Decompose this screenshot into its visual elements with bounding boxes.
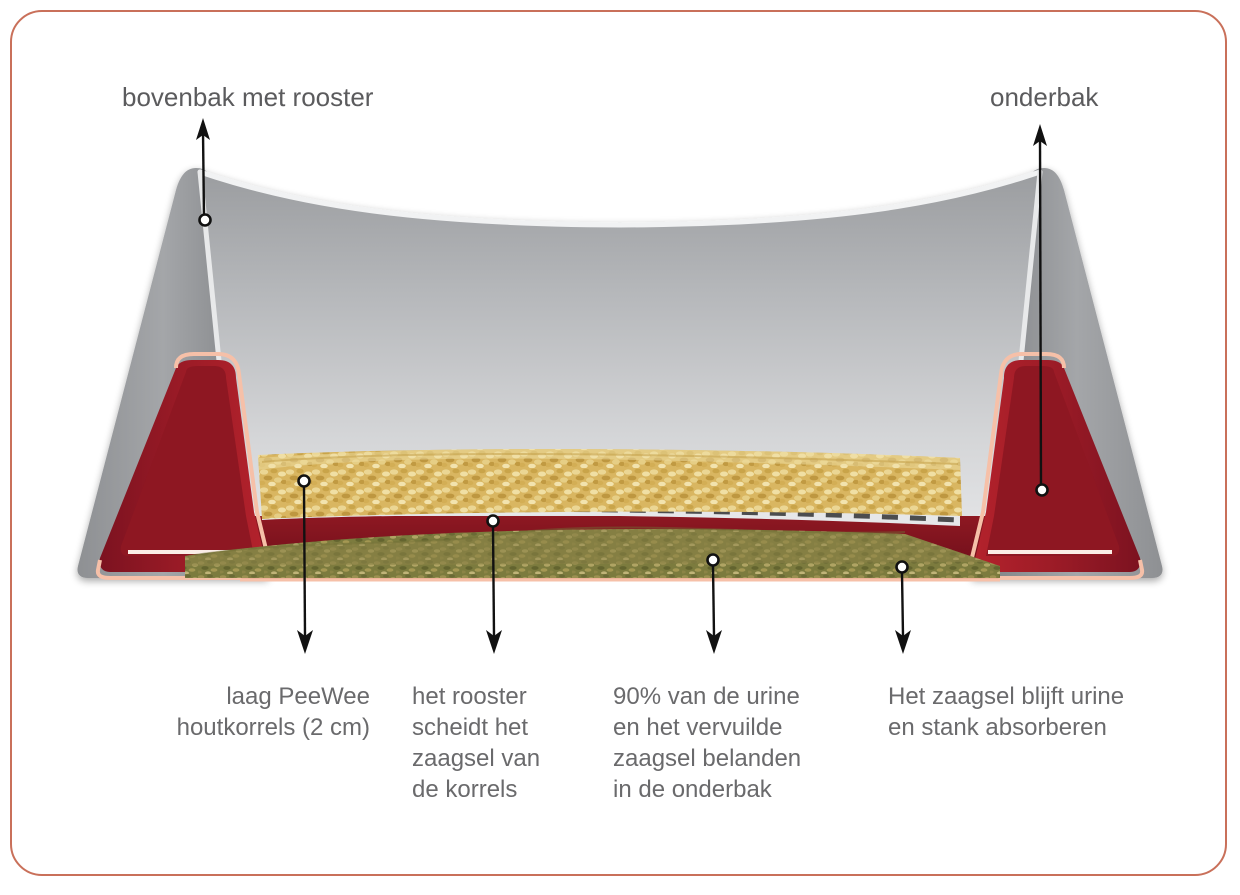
caption-houtkorrels: laag PeeWeehoutkorrels (2 cm) (60, 681, 370, 743)
caption-line: 90% van de urine (613, 681, 863, 712)
caption-line: laag PeeWee (60, 681, 370, 712)
caption-line: houtkorrels (2 cm) (60, 712, 370, 743)
label-bovenbak-met-rooster: bovenbak met rooster (122, 82, 373, 113)
caption-rooster: het roosterscheidt hetzaagsel vande korr… (412, 681, 582, 805)
caption-line: de korrels (412, 774, 582, 805)
caption-urine: 90% van de urineen het vervuildezaagsel … (613, 681, 863, 805)
caption-line: in de onderbak (613, 774, 863, 805)
label-onderbak: onderbak (990, 82, 1098, 113)
caption-line: en stank absorberen (888, 712, 1208, 743)
caption-line: en het vervuilde (613, 712, 863, 743)
caption-line: het rooster (412, 681, 582, 712)
diagram-stage: bovenbak met rooster onderbak laag PeeWe… (0, 0, 1240, 895)
caption-line: Het zaagsel blijft urine (888, 681, 1208, 712)
caption-line: scheidt het (412, 712, 582, 743)
caption-zaagsel: Het zaagsel blijft urineen stank absorbe… (888, 681, 1208, 743)
caption-line: zaagsel belanden (613, 743, 863, 774)
caption-line: zaagsel van (412, 743, 582, 774)
